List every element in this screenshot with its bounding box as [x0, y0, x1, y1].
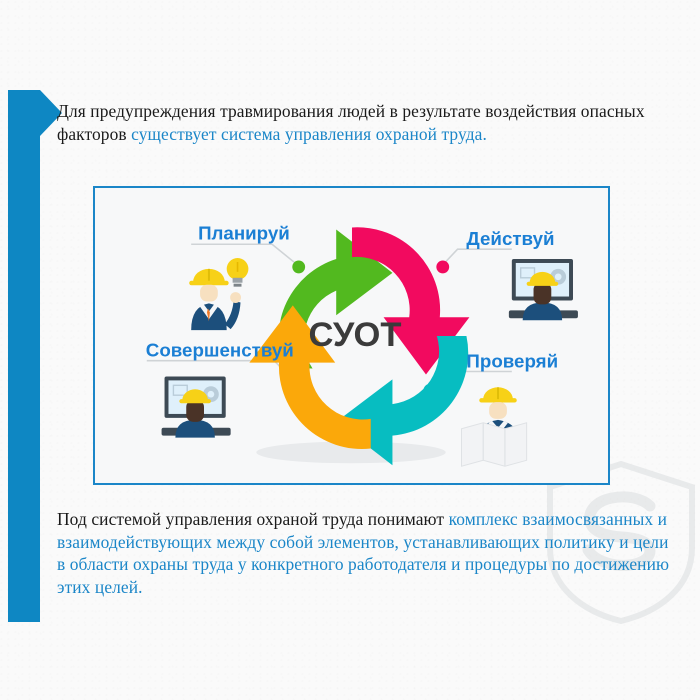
suot-center-label: СУОТ: [308, 316, 401, 354]
left-accent-bar: [8, 90, 40, 622]
step-label-plan: Планируй: [198, 222, 290, 243]
engineer-at-computer-icon: [509, 259, 578, 320]
definition-paragraph: Под системой управления охраной труда по…: [57, 508, 677, 599]
engineer-at-computer-icon: [162, 376, 231, 437]
suot-cycle-svg: СУОТ Планируй Действуй Совершенствуй Про…: [95, 188, 608, 483]
intro-paragraph: Для предупреждения травмирования людей в…: [57, 100, 657, 145]
connector-dot-plan: [292, 261, 305, 274]
engineer-with-lightbulb-icon: [189, 258, 248, 330]
suot-cycle-diagram: СУОТ Планируй Действуй Совершенствуй Про…: [93, 186, 610, 485]
step-label-improve: Совершенствуй: [146, 340, 294, 361]
step-label-do: Действуй: [466, 228, 554, 249]
engineer-with-map-icon: [462, 387, 527, 466]
step-label-check: Проверяй: [466, 351, 558, 372]
slide-page: Для предупреждения травмирования людей в…: [0, 0, 700, 700]
connector-dot-do: [436, 261, 449, 274]
intro-paragraph-highlight-text: существует система управления охраной тр…: [131, 124, 487, 144]
definition-paragraph-dark-text: Под системой управления охраной труда по…: [57, 509, 449, 529]
